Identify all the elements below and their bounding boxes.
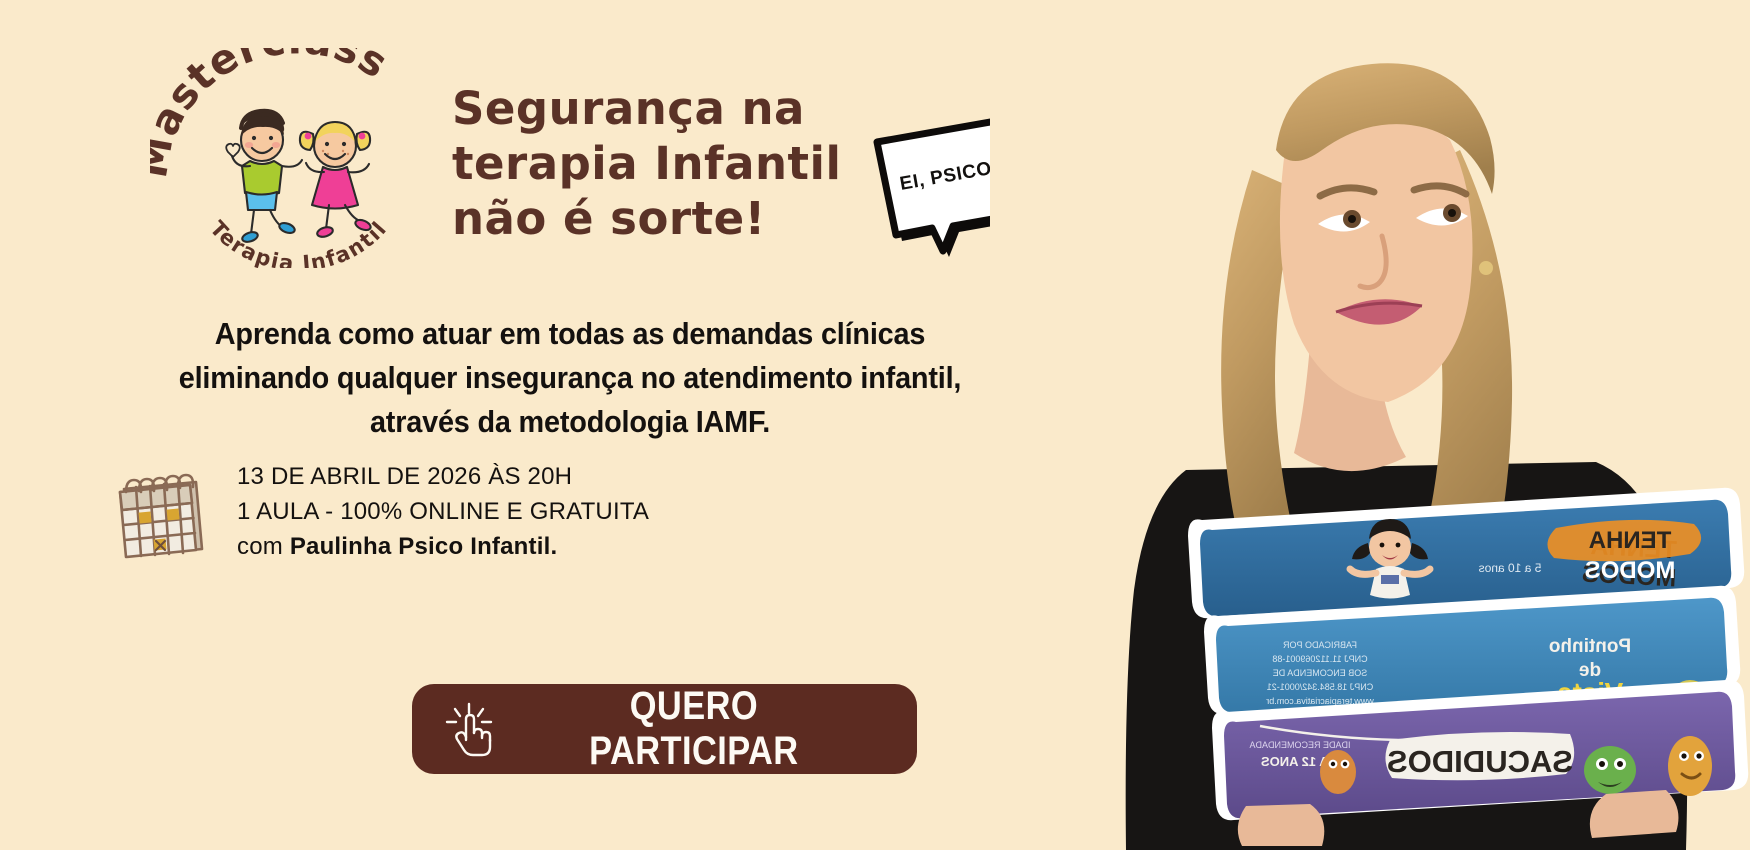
event-details: 13 DE ABRIL DE 2026 ÀS 20H 1 AULA - 100%… xyxy=(110,460,649,564)
subheadline-line-2: eliminando qualquer insegurança no atend… xyxy=(105,356,1035,400)
promo-banner: Masterclass Terapia Infantil xyxy=(0,0,1750,850)
svg-text:SOB ENCOMENDA DE: SOB ENCOMENDA DE xyxy=(1273,668,1368,678)
headline-line-3: não é sorte! xyxy=(452,192,872,247)
calendar-icon xyxy=(110,465,215,560)
headline-line-1: Segurança na xyxy=(452,82,872,137)
woman-hand-left xyxy=(1238,804,1324,846)
masterclass-logo: Masterclass Terapia Infantil xyxy=(150,48,440,268)
svg-text:SACUDIDOS: SACUDIDOS xyxy=(1387,744,1573,779)
svg-text:CNPJ 11.112069001-88: CNPJ 11.112069001-88 xyxy=(1272,654,1367,664)
presenter-name: Paulinha Psico Infantil. xyxy=(290,533,558,560)
photo-illustration: TENHA MODOS TENHA MODOS 5 a 10 anos xyxy=(990,0,1750,850)
svg-text:5 a 10 anos: 5 a 10 anos xyxy=(1479,561,1542,575)
svg-text:FABRICADO POR: FABRICADO POR xyxy=(1282,640,1357,650)
boy-figure xyxy=(226,111,302,244)
woman-hand-right xyxy=(1590,790,1679,838)
woman-holding-game-boxes-photo: TENHA MODOS TENHA MODOS 5 a 10 anos xyxy=(990,0,1750,850)
woman-earring xyxy=(1479,261,1493,275)
svg-text:IDADE RECOMENDADA: IDADE RECOMENDADA xyxy=(1249,740,1350,750)
headline-line-2: terapia Infantil xyxy=(452,137,872,192)
page-title: Segurança na terapia Infantil não é sort… xyxy=(452,82,872,247)
svg-text:MODOS: MODOS xyxy=(1585,557,1676,584)
cta-button-label: QUERO PARTICIPAR xyxy=(529,684,888,774)
subheadline-line-3: através da metodologia IAMF. xyxy=(105,400,1035,444)
event-presenter: com Paulinha Psico Infantil. xyxy=(237,530,649,565)
event-format: 1 AULA - 100% ONLINE E GRATUITA xyxy=(237,495,649,530)
subheadline: Aprenda como atuar em todas as demandas … xyxy=(105,312,1035,444)
presenter-prefix: com xyxy=(237,533,290,560)
cta-button[interactable]: QUERO PARTICIPAR xyxy=(412,684,917,774)
event-details-text: 13 DE ABRIL DE 2026 ÀS 20H 1 AULA - 100%… xyxy=(237,460,649,564)
girl-figure xyxy=(300,122,372,238)
click-hand-cursor-icon xyxy=(442,700,500,758)
svg-text:TENHA: TENHA xyxy=(1589,527,1672,554)
logo-illustration: Masterclass Terapia Infantil xyxy=(150,48,440,268)
svg-text:Pontinho: Pontinho xyxy=(1549,636,1631,657)
event-date: 13 DE ABRIL DE 2026 ÀS 20H xyxy=(237,460,649,495)
svg-text:CNPJ 18.584.342/0001-21: CNPJ 18.584.342/0001-21 xyxy=(1267,682,1374,692)
subheadline-line-1: Aprenda como atuar em todas as demandas … xyxy=(105,312,1035,356)
